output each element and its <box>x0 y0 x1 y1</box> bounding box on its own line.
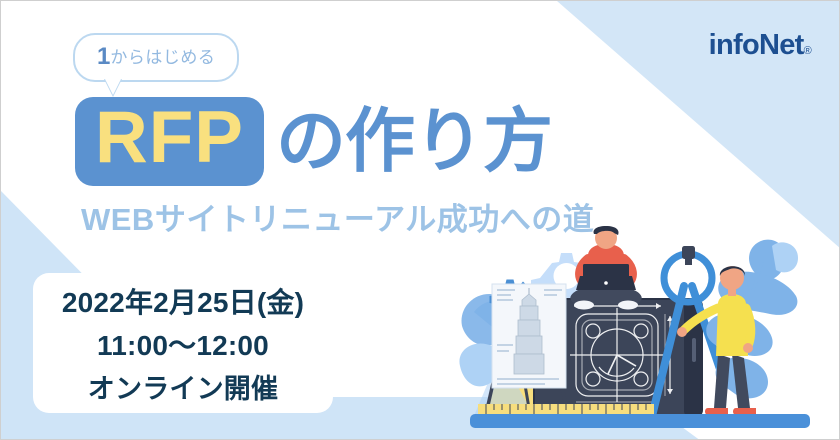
event-date: 2022年2月25日(金) <box>62 281 304 321</box>
main-title: RFP の作り方 <box>75 97 552 186</box>
subtitle: WEBサイトリニューアル成功への道 <box>81 194 594 239</box>
logo-text: infoNet <box>709 29 804 61</box>
title-suffix: の作り方 <box>276 106 552 176</box>
event-info-card: 2022年2月25日(金) 11:00～12:00 オンライン開催 <box>33 273 333 413</box>
intro-speech-bubble: 1からはじめる <box>73 33 239 82</box>
bubble-number: 1 <box>97 43 110 70</box>
speech-bubble-tail-icon <box>104 77 122 95</box>
bubble-text: からはじめる <box>110 48 215 67</box>
infonet-logo: infoNet® <box>709 29 811 62</box>
illustration-svg <box>456 226 840 440</box>
illustration-base-platform <box>470 414 810 428</box>
event-format: オンライン開催 <box>88 367 278 406</box>
seminar-banner: infoNet® 1からはじめる RFP の作り方 WEBサイトリニューアル成功… <box>0 0 840 440</box>
registered-mark-icon: ® <box>804 45 811 57</box>
event-time: 11:00～12:00 <box>97 324 269 364</box>
rfp-badge: RFP <box>75 97 264 186</box>
blueprint-design-illustration <box>456 226 840 440</box>
